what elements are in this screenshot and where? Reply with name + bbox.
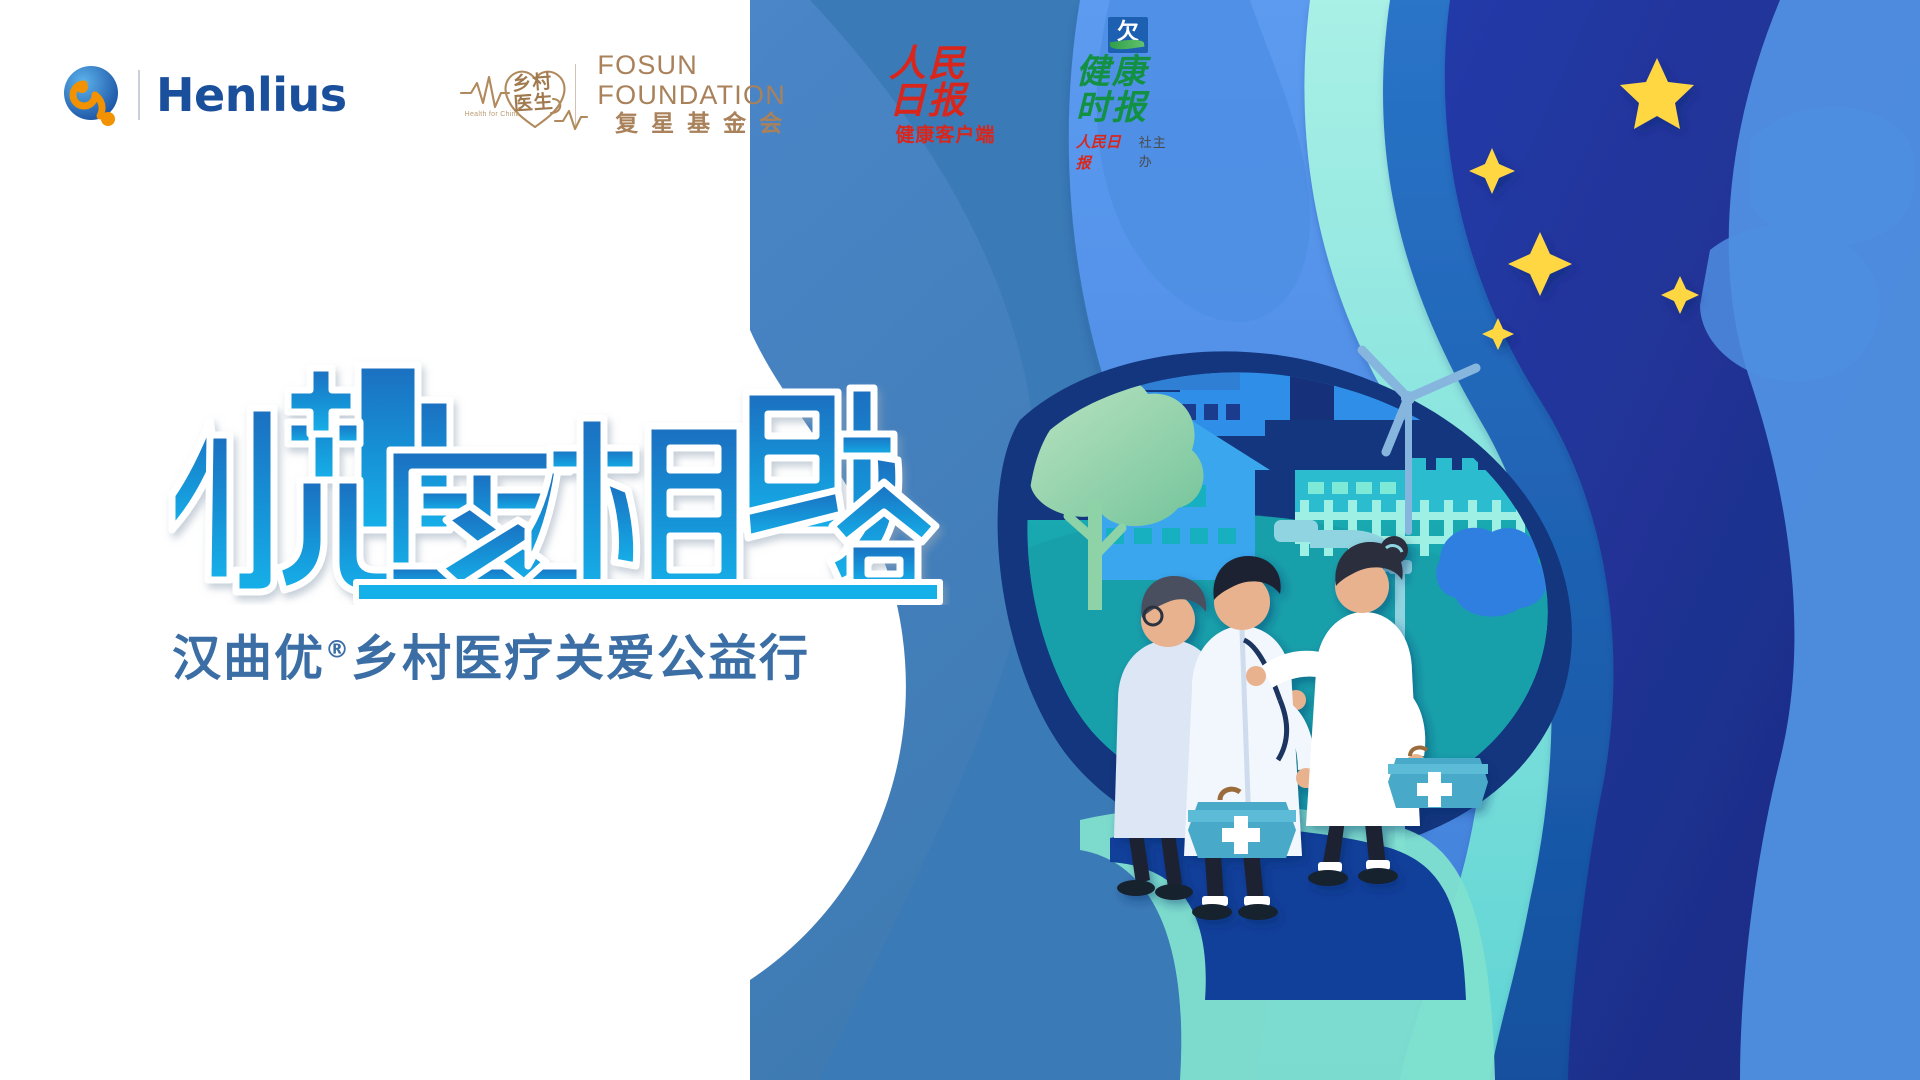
subtitle-brand: 汉曲优 <box>172 630 325 687</box>
fosun-english: FOSUN FOUNDATION <box>597 51 812 110</box>
registered-mark: ® <box>325 636 351 664</box>
logo-health-times[interactable]: 欠 健康时报 人民日报 社主办 <box>1076 17 1180 172</box>
campaign-subtitle: 汉曲优®乡村医疗关爱公益行 <box>150 619 950 690</box>
logo-henlius[interactable]: Henlius <box>62 64 347 126</box>
health-times-icon: 欠 <box>1108 17 1148 53</box>
health-times-sub: 人民日报 社主办 <box>1076 131 1180 173</box>
fosun-chinese: 复星基金会 <box>615 110 795 139</box>
henlius-wordmark: Henlius <box>156 72 347 118</box>
campaign-title-block: 汉曲优®乡村医疗关爱公益行 <box>150 330 950 690</box>
logo-divider <box>138 70 140 120</box>
rural-doctor-chinese: 乡村 医生 <box>501 71 564 115</box>
peoples-daily-sub: 健康客户端 <box>895 126 995 145</box>
peoples-daily-title: 人民日报 <box>889 45 1002 119</box>
campaign-title-logotype <box>150 330 950 605</box>
logo-rural-doctor[interactable]: 乡村 医生 Health for China <box>459 55 553 135</box>
logo-peoples-daily-health[interactable]: 人民日报 健康客户端 <box>889 45 1002 145</box>
title-char-you <box>172 368 390 592</box>
title-ground-bar <box>356 582 940 602</box>
poster-canvas: Henlius 乡村 医生 Health for China FOSUN FOU… <box>0 0 1920 1080</box>
health-times-sub-red: 人民日报 <box>1076 131 1135 173</box>
henlius-mark-icon <box>62 64 124 126</box>
health-times-title: 健康时报 <box>1076 55 1180 126</box>
partner-logo-bar: Henlius 乡村 医生 Health for China FOSUN FOU… <box>0 0 1180 190</box>
rural-doctor-tagline: Health for China <box>465 111 520 118</box>
logo-fosun-foundation[interactable]: FOSUN FOUNDATION 复星基金会 <box>597 60 812 130</box>
health-times-sub-gray: 社主办 <box>1139 132 1180 170</box>
subtitle-rest: 乡村医疗关爱公益行 <box>351 630 810 687</box>
